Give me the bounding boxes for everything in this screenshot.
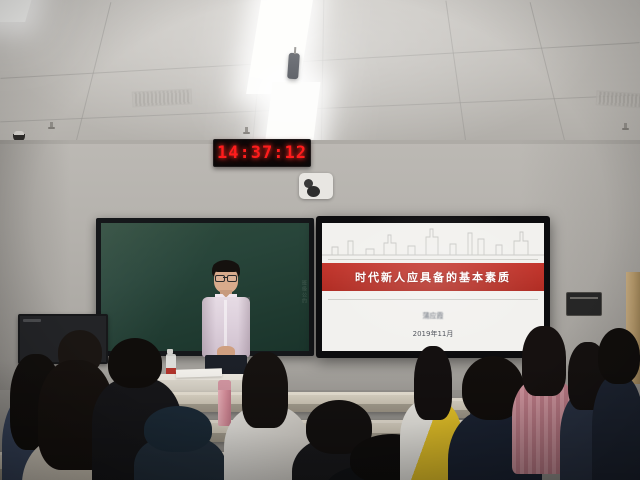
slide-presenter-text: 蒲应霞 [322,311,544,321]
slide-title-band: 时代新人应具备的基本素质 [322,263,544,291]
papers-stack [176,368,222,378]
wall-motion-sensor-icon [299,173,333,199]
ceiling [0,0,640,152]
slide-title-text: 时代新人应具备的基本素质 [355,269,511,285]
wall-control-panel[interactable] [566,292,602,316]
slide-skyline-graphic [322,223,544,257]
classroom-scene: 14:37:12 班级公约 时代新人应具备的基本素质 [0,0,640,480]
blackboard-side-text: 班级公约 [300,280,307,340]
slide-content: 时代新人应具备的基本素质 蒲应霞 2019年11月 [322,223,544,351]
slide-date-text: 2019年11月 [322,329,544,339]
pink-thermos [218,380,231,426]
presenter-hair-top [213,261,239,272]
presenter-glasses-icon [215,275,237,281]
digital-wall-clock: 14:37:12 [213,139,311,167]
clock-time-text: 14:37:12 [217,143,307,163]
